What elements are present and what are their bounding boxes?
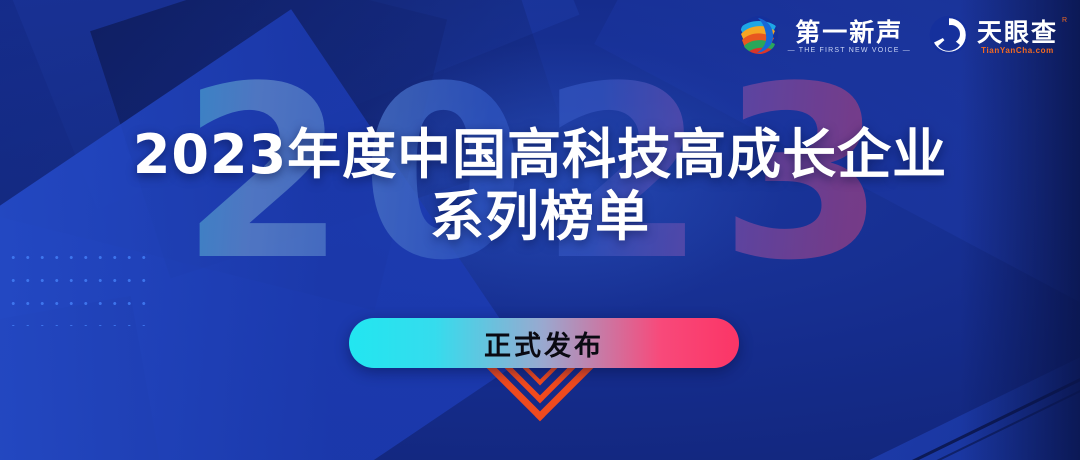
- logo-diyixinsheng-text: 第一新声 — THE FIRST NEW VOICE —: [788, 19, 911, 56]
- logo-diyixinsheng-name: 第一新声: [795, 19, 903, 46]
- release-status-label: 正式发布: [484, 324, 604, 363]
- background-facet-line-1: [683, 300, 1080, 460]
- logo-tianyancha[interactable]: 天眼查 R TianYanCha.com: [929, 15, 1058, 60]
- logo-tianyancha-domain: TianYanCha.com: [981, 46, 1054, 56]
- release-status-pill[interactable]: 正式发布: [349, 318, 739, 368]
- registered-mark-icon: R: [1062, 17, 1067, 24]
- logo-bar: 第一新声 — THE FIRST NEW VOICE — 天眼查 R TianY…: [738, 12, 1058, 62]
- title-line-2: 系列榜单: [0, 186, 1080, 248]
- title-line-1: 2023年度中国高科技高成长企业: [0, 124, 1080, 186]
- logo-diyixinsheng[interactable]: 第一新声 — THE FIRST NEW VOICE —: [738, 14, 911, 61]
- swirl-globe-logo-mark: [738, 14, 780, 61]
- logo-diyixinsheng-tagline: — THE FIRST NEW VOICE —: [788, 46, 911, 56]
- page-title: 2023年度中国高科技高成长企业 系列榜单: [0, 124, 1080, 248]
- background-facet-line-2: [683, 312, 1080, 460]
- promo-banner: 2023 2023年度中国高科技高成长企业 系列榜单 正式发布: [0, 0, 1080, 460]
- logo-tianyancha-text: 天眼查 R TianYanCha.com: [977, 19, 1058, 56]
- eye-lens-logo-mark: [929, 15, 969, 60]
- logo-tianyancha-name: 天眼查: [977, 19, 1058, 46]
